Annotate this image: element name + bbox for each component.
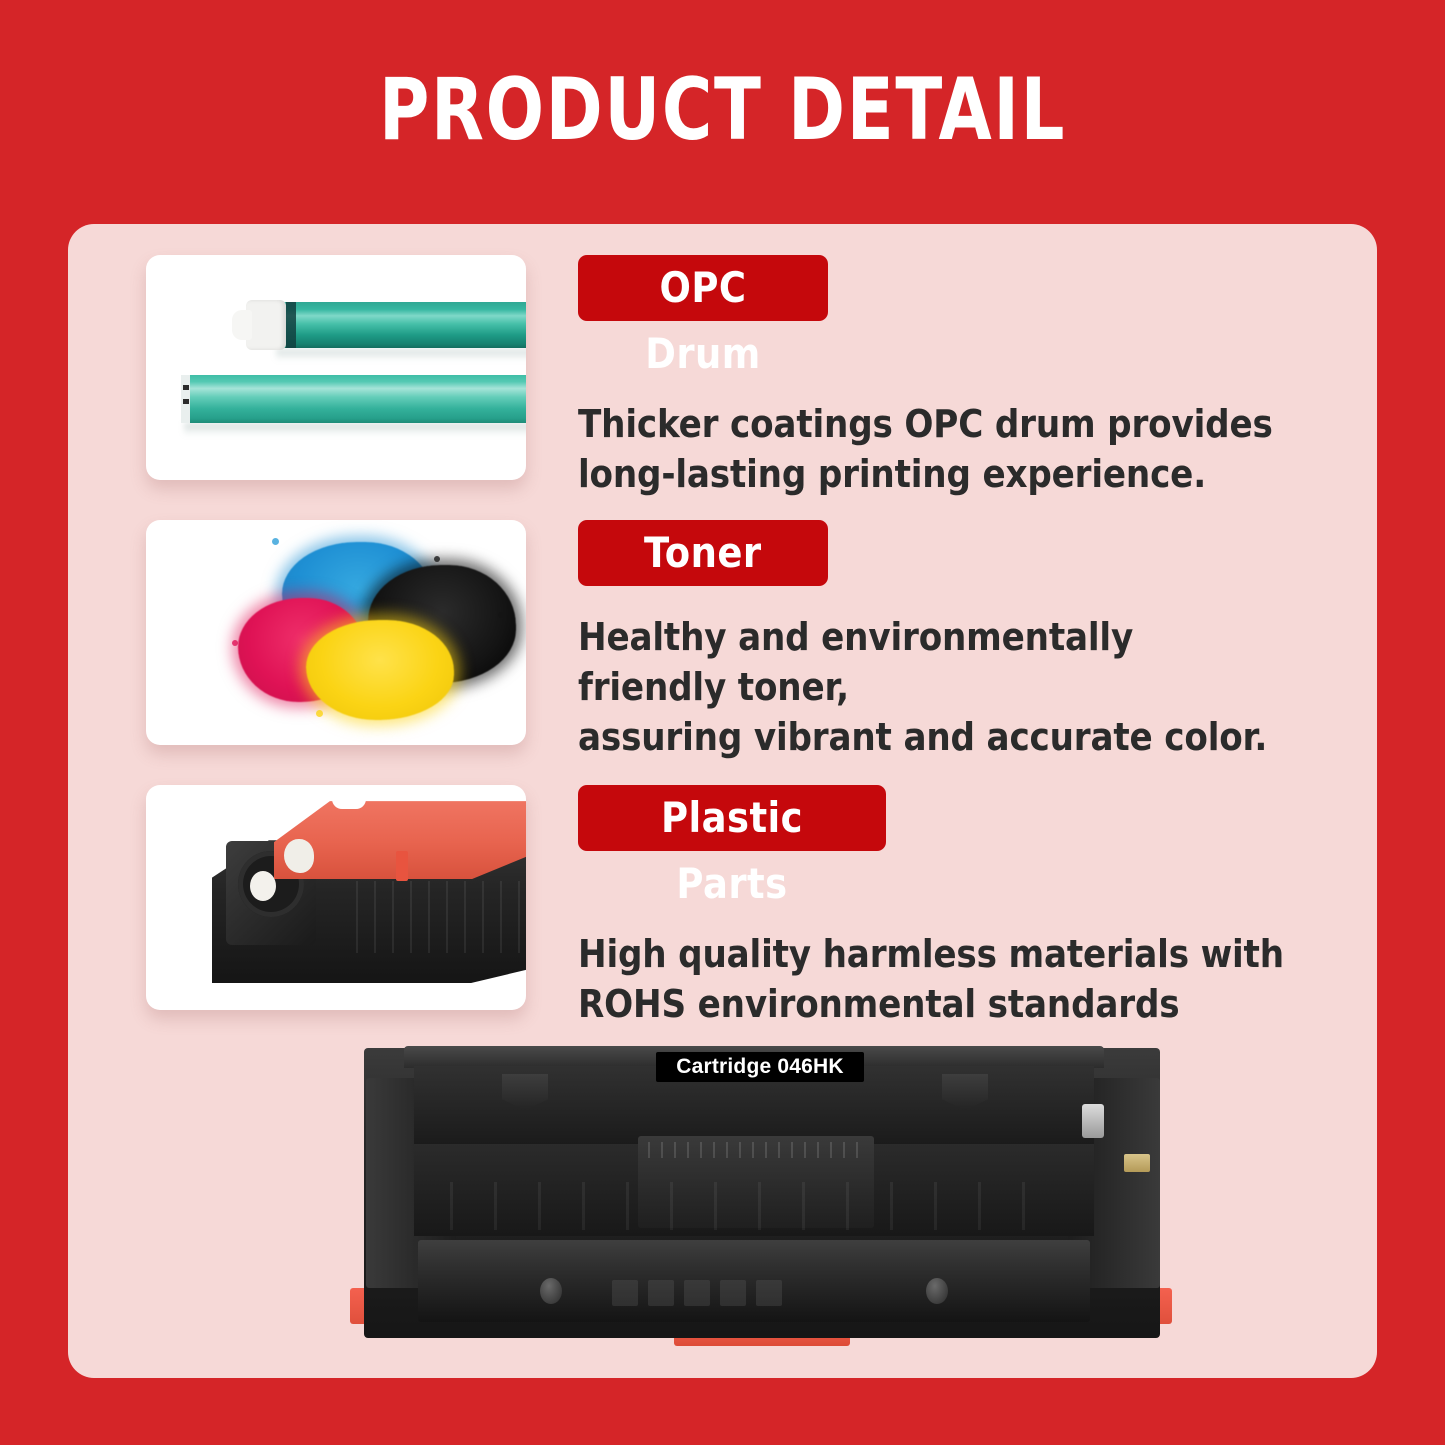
cartridge-center-ribs [648,1142,864,1158]
toner-speck [316,710,323,717]
feature-text-opc-drum: OPC Drum Thicker coatings OPC drum provi… [578,255,1368,499]
cartridge-warning-icons [612,1278,802,1308]
drum-cylinder-upper [278,302,526,348]
drum-stripe-icon [286,302,296,348]
toner-cartridge-photo: Cartridge 046HK [322,1032,1202,1372]
drum-shadow-upper [276,349,526,361]
cover-notch [332,797,366,809]
cartridge-chip [1124,1154,1150,1172]
cartridge-peg-right [926,1278,948,1304]
toner-speck [434,556,440,562]
warning-icon [756,1280,782,1306]
cmyk-toner-powder-photo [146,520,526,745]
toner-speck [232,640,238,646]
plastic-parts-photo [146,785,526,1010]
drum-shadow-lower [184,423,526,436]
feature-badge-plastic-parts: Plastic Parts [578,785,886,851]
toner-speck [272,538,279,545]
cartridge-ribs [356,881,526,953]
cartridge-peg-left [540,1278,562,1304]
drum-gear-cap-icon [246,300,286,350]
drum-cylinder-lower [181,375,526,423]
cartridge-model-label: Cartridge 046HK [656,1052,864,1082]
white-gear-a-icon [250,871,276,901]
warning-icon [612,1280,638,1306]
warning-icon [684,1280,710,1306]
warning-icon [720,1280,746,1306]
cartridge-model-text: Cartridge 046HK [676,1055,844,1079]
white-gear-b-icon [284,839,314,873]
feature-description-opc-drum: Thicker coatings OPC drum provides long-… [578,399,1289,499]
product-detail-infographic: PRODUCT DETAIL OPC Drum Thicker coatings… [0,0,1445,1445]
feature-badge-toner: Toner [578,520,828,586]
cover-tab [396,851,408,881]
toner-speck [498,612,504,618]
warning-icon [648,1280,674,1306]
feature-description-toner: Healthy and environmentally friendly ton… [578,612,1289,762]
feature-description-plastic-parts: High quality harmless materials with ROH… [578,929,1289,1029]
page-title: PRODUCT DETAIL [145,62,1301,158]
cartridge-lever [1082,1104,1104,1138]
toner-pile-yellow [306,620,454,720]
feature-text-plastic-parts: Plastic Parts High quality harmless mate… [578,785,1368,1029]
feature-badge-opc-drum: OPC Drum [578,255,828,321]
opc-drum-photo [146,255,526,480]
cartridge-slots [450,1182,1058,1230]
feature-text-toner: Toner Healthy and environmentally friend… [578,520,1368,762]
drum-end-cap-icon [181,375,190,423]
